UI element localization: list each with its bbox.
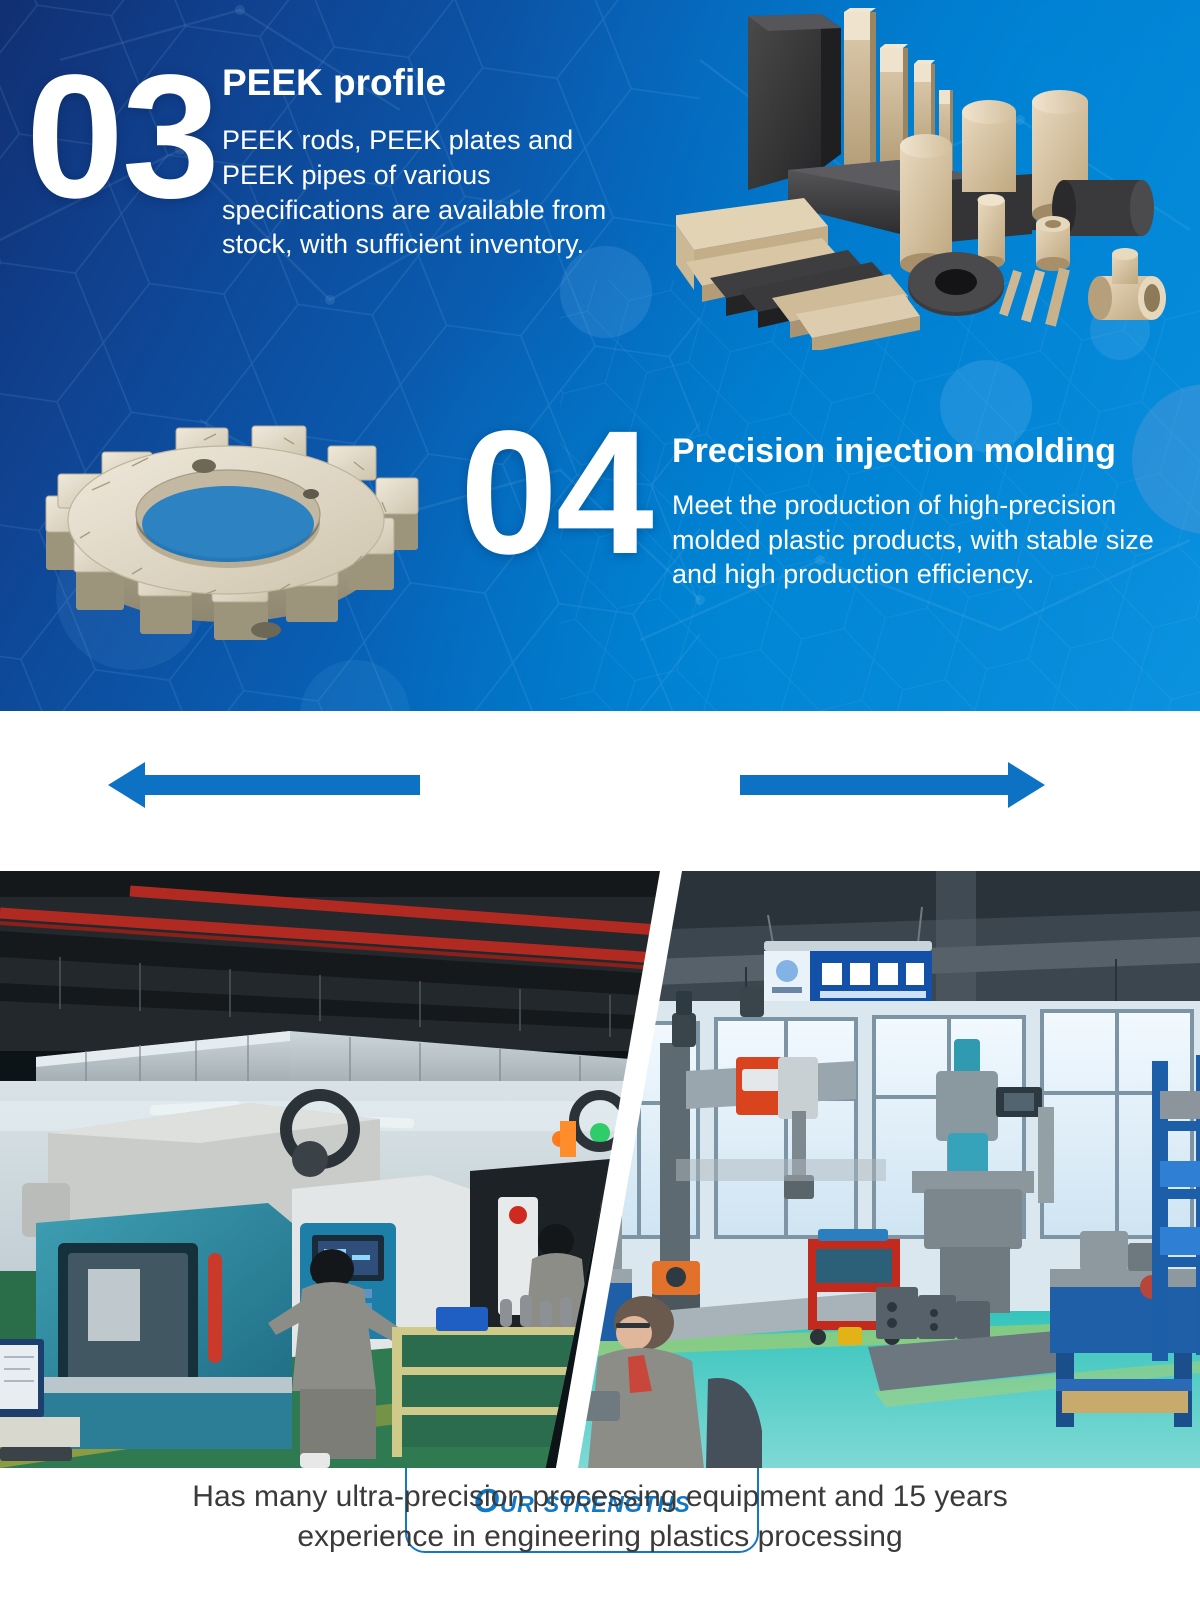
marketing-page: 03 PEEK profile PEEK rods, PEEK plates a… [0,0,1200,1612]
caption-line-1: Has many ultra-precision processing equi… [0,1477,1200,1517]
section-04-body: Meet the production of high-precision mo… [672,488,1172,592]
section-04-content: Precision injection molding Meet the pro… [672,432,1172,592]
section-number-04: 04 [460,418,652,569]
hero-blue-panel: 03 PEEK profile PEEK rods, PEEK plates a… [0,0,1200,711]
right-arrow-icon [740,762,1045,808]
peek-stock-shapes-photo [676,0,1200,350]
section-number-03: 03 [26,62,218,213]
section-03-title: PEEK profile [222,62,652,103]
cnc-machining-workshop-photo [0,871,672,1468]
strengths-banner: Our strengths [0,711,1200,871]
gallery-caption: Has many ultra-precision processing equi… [0,1477,1200,1556]
workshop-gallery [0,871,1200,1468]
peek-gear-ring-photo [28,378,448,678]
double-arrow-rule [0,711,1200,871]
caption-line-2: experience in engineering plastics proce… [0,1517,1200,1557]
section-03-content: PEEK profile PEEK rods, PEEK plates and … [222,62,652,262]
section-04-title: Precision injection molding [672,432,1172,470]
left-arrow-icon [108,762,420,808]
mold-workshop-photo [556,871,1200,1468]
section-03-body: PEEK rods, PEEK plates and PEEK pipes of… [222,123,652,261]
